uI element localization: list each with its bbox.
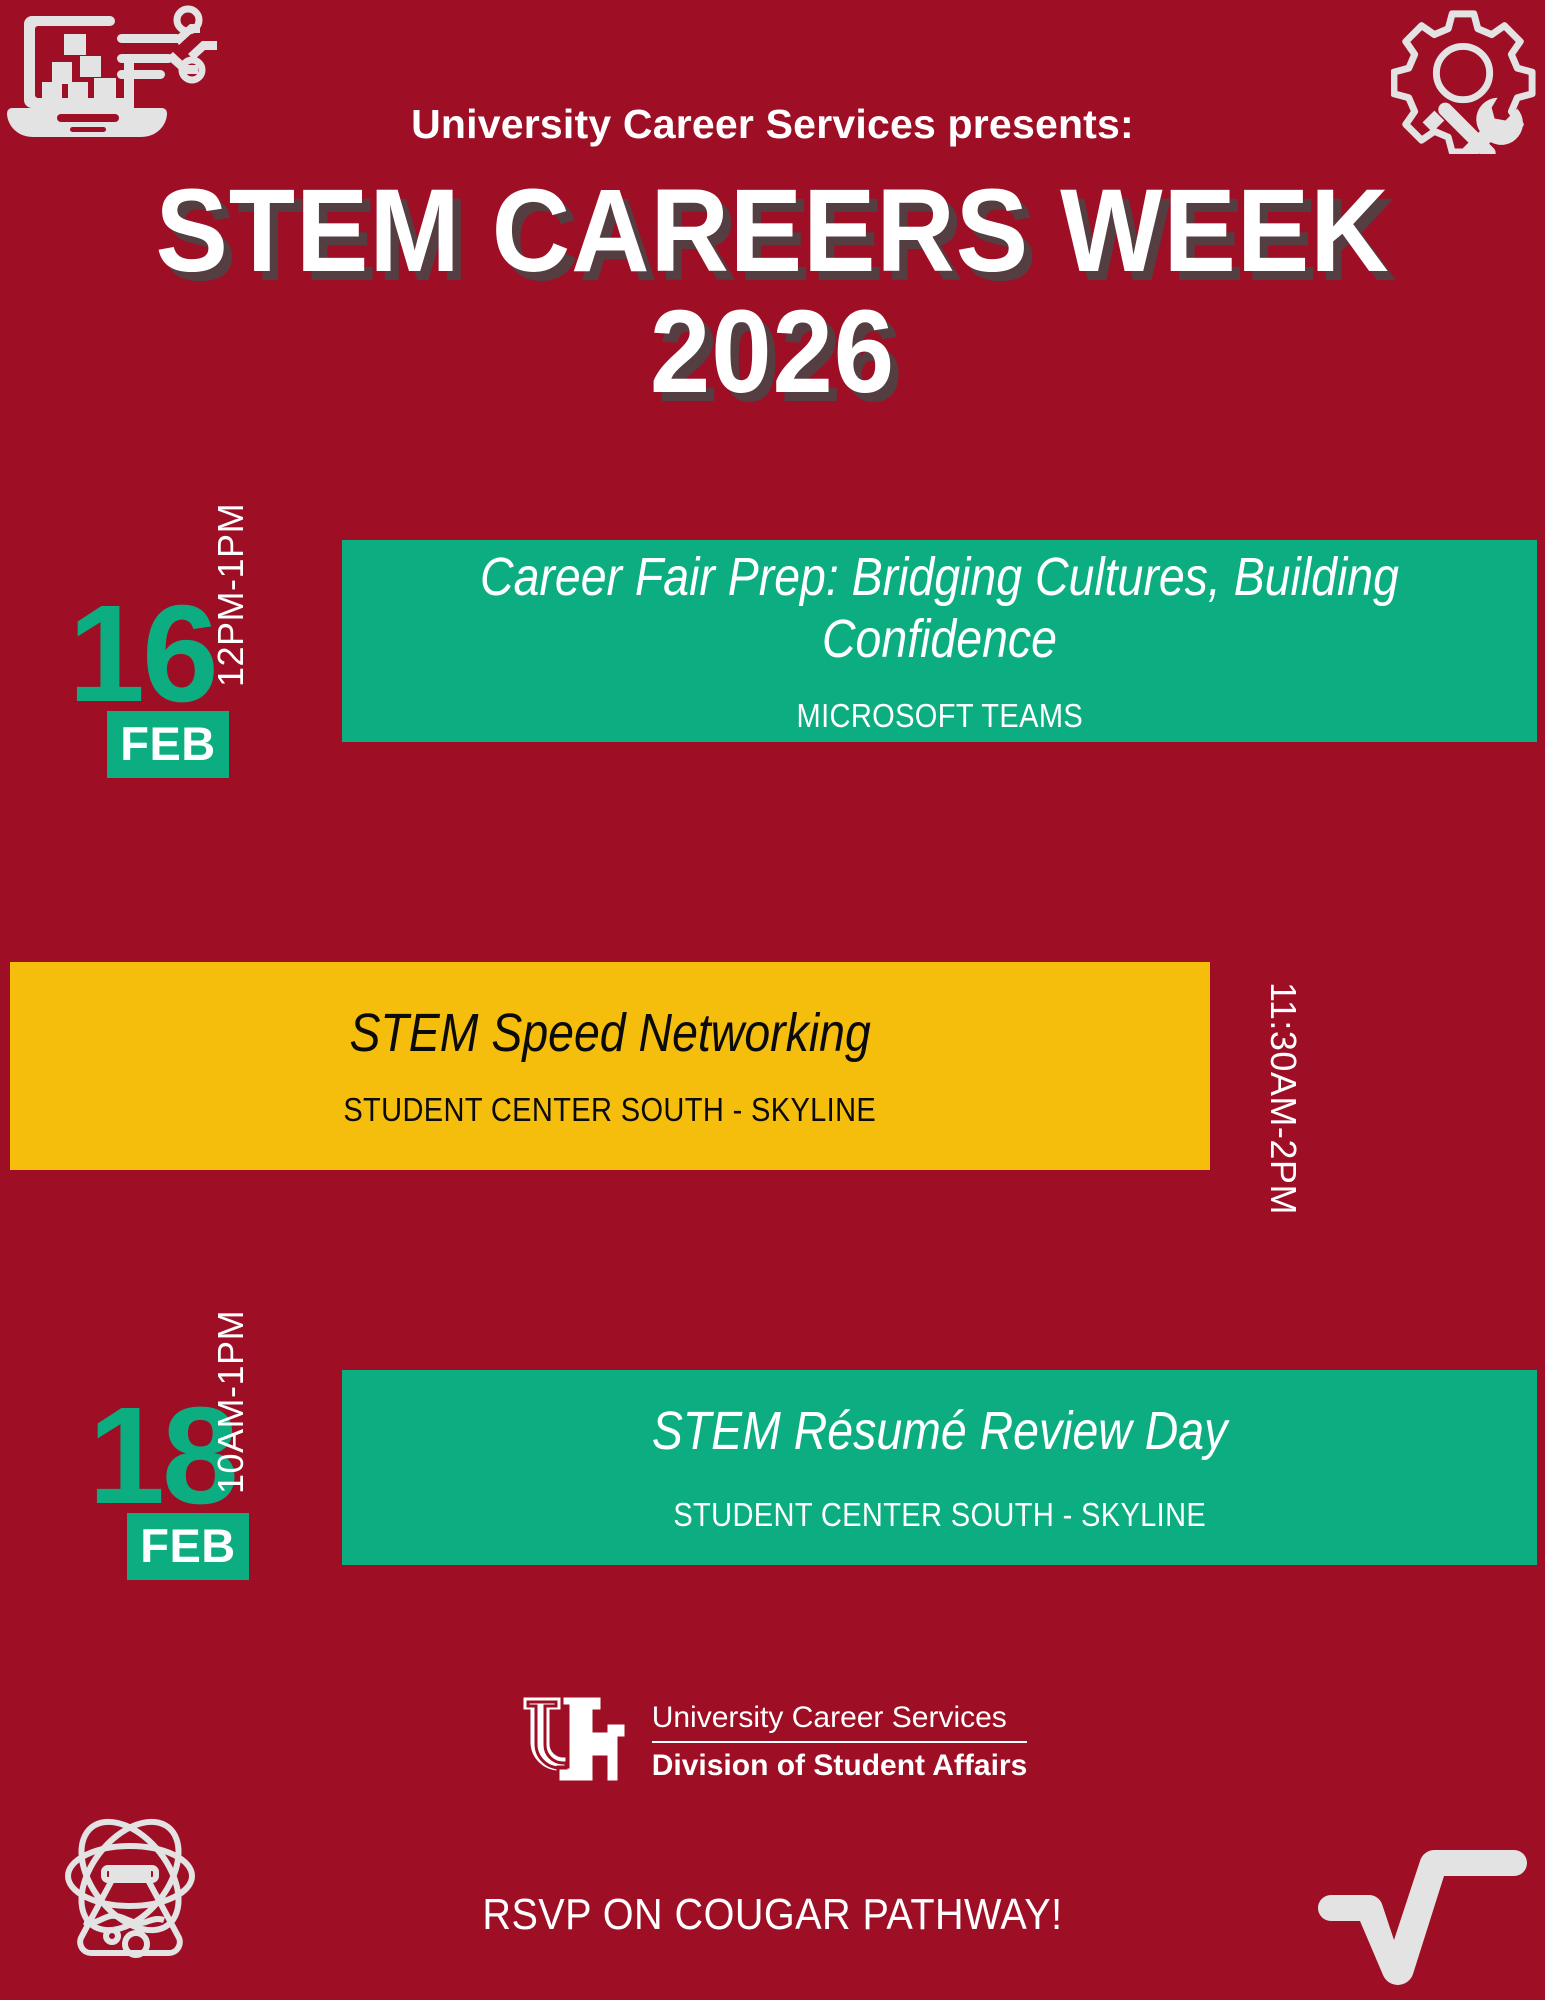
presents-line: University Career Services presents: bbox=[0, 100, 1545, 149]
rsvp-text: RSVP ON COUGAR PATHWAY! bbox=[77, 1890, 1468, 1940]
event-time-2: 11:30AM-2PM bbox=[1262, 982, 1304, 1215]
logo-text: University Career Services Division of S… bbox=[652, 1700, 1028, 1784]
date-month: FEB bbox=[107, 711, 229, 778]
poster-canvas: University Career Services presents: STE… bbox=[0, 0, 1545, 2000]
event-time-3: 10AM-1PM bbox=[210, 1310, 252, 1494]
poster-header: University Career Services presents: STE… bbox=[0, 100, 1545, 412]
event-title: STEM Résumé Review Day bbox=[652, 1401, 1228, 1463]
uh-interlocking-logo-icon bbox=[518, 1690, 626, 1794]
logo-line-2: Division of Student Affairs bbox=[652, 1743, 1028, 1785]
event-location: STUDENT CENTER SOUTH - SKYLINE bbox=[673, 1496, 1206, 1534]
event-location: MICROSOFT TEAMS bbox=[796, 697, 1083, 735]
event-card-2[interactable]: STEM Speed Networking STUDENT CENTER SOU… bbox=[10, 962, 1210, 1170]
event-card-3[interactable]: STEM Résumé Review Day STUDENT CENTER SO… bbox=[342, 1370, 1537, 1565]
atom-flask-icon bbox=[40, 1798, 220, 1978]
event-time-1: 12PM-1PM bbox=[210, 503, 252, 687]
event-card-1[interactable]: Career Fair Prep: Bridging Cultures, Bui… bbox=[342, 540, 1537, 742]
footer-logo: University Career Services Division of S… bbox=[0, 1690, 1545, 1794]
event-title: Career Fair Prep: Bridging Cultures, Bui… bbox=[451, 547, 1427, 670]
date-month: FEB bbox=[127, 1513, 249, 1580]
event-title: STEM Speed Networking bbox=[349, 1003, 870, 1065]
event-location: STUDENT CENTER SOUTH - SKYLINE bbox=[344, 1091, 877, 1129]
logo-line-1: University Career Services bbox=[652, 1700, 1028, 1743]
page-title: STEM CAREERS WEEK 2026 bbox=[62, 171, 1483, 412]
